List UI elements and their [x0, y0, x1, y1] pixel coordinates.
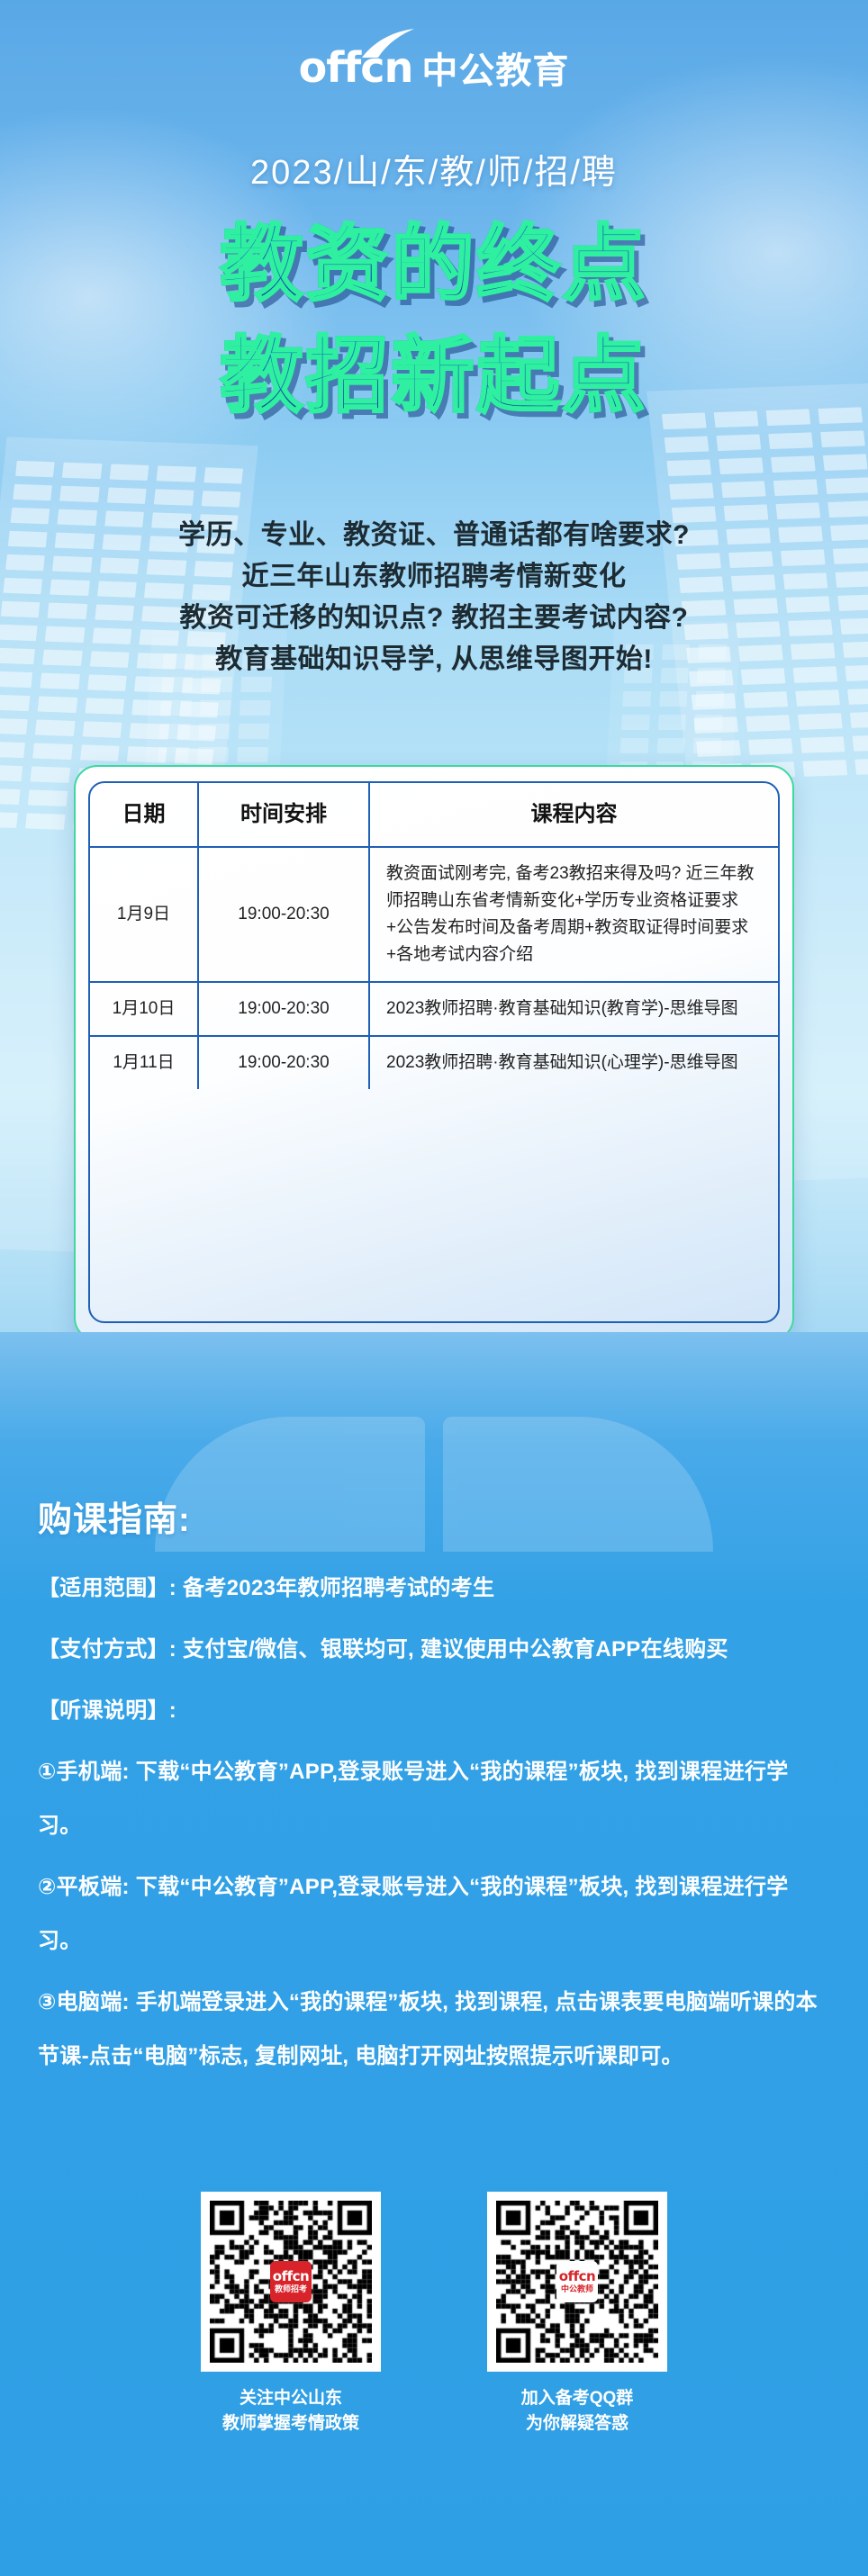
offcn-wordmark-text: offcn [299, 43, 413, 92]
cell-content: 2023教师招聘·教育基础知识(心理学)-思维导图 [369, 1036, 778, 1089]
cell-date: 1月10日 [90, 982, 198, 1036]
headline-line-2: 教招新起点 [0, 335, 868, 418]
qr-code-area: offcn 教师招考 关注中公山东 教师掌握考情政策 offcn 中公教师 加入… [0, 2192, 868, 2436]
qr-item-wechat[interactable]: offcn 教师招考 关注中公山东 教师掌握考情政策 [201, 2192, 381, 2436]
table-header-row: 日期 时间安排 课程内容 [90, 783, 778, 847]
schedule-table: 日期 时间安排 课程内容 1月9日 19:00-20:30 教资面试刚考完, 备… [90, 783, 778, 1089]
description-line: 学历、专业、教资证、普通话都有啥要求? [0, 515, 868, 556]
hero-description: 学历、专业、教资证、普通话都有啥要求? 近三年山东教师招聘考情新变化 教资可迁移… [0, 515, 868, 680]
description-line: 近三年山东教师招聘考情新变化 [0, 556, 868, 598]
guide-paragraph-payment: 【支付方式】: 支付宝/微信、银联均可, 建议使用中公教育APP在线购买 [38, 1623, 830, 1677]
qr-center-logo-1: offcn 教师招考 [270, 2261, 312, 2302]
guide-paragraph-tablet: ②平板端: 下载“中公教育”APP,登录账号进入“我的课程”板块, 找到课程进行… [38, 1860, 830, 1968]
headline-line-1: 教资的终点 [0, 223, 868, 306]
description-line: 教资可迁移的知识点? 教招主要考试内容? [0, 598, 868, 639]
poster-root: offcn 中公教育 2023/山/东/教/师/招/聘 教资的终点 教招新起点 … [0, 0, 868, 2576]
brand-logo: offcn 中公教育 [0, 41, 868, 94]
schedule-card-inner: 日期 时间安排 课程内容 1月9日 19:00-20:30 教资面试刚考完, 备… [88, 781, 780, 1323]
table-row: 1月10日 19:00-20:30 2023教师招聘·教育基础知识(教育学)-思… [90, 982, 778, 1036]
schedule-card: 日期 时间安排 课程内容 1月9日 19:00-20:30 教资面试刚考完, 备… [74, 765, 794, 1341]
guide-paragraph-scope: 【适用范围】: 备考2023年教师招聘考试的考生 [38, 1562, 830, 1616]
table-row: 1月9日 19:00-20:30 教资面试刚考完, 备考23教招来得及吗? 近三… [90, 847, 778, 982]
qr-caption-1: 关注中公山东 教师掌握考情政策 [201, 2386, 381, 2436]
cell-content: 教资面试刚考完, 备考23教招来得及吗? 近三年教师招聘山东省考情新变化+学历专… [369, 847, 778, 982]
cell-date: 1月11日 [90, 1036, 198, 1089]
guide-title: 购课指南: [38, 1491, 191, 1541]
cell-date: 1月9日 [90, 847, 198, 982]
column-header-date: 日期 [90, 783, 198, 847]
description-line: 教育基础知识导学, 从思维导图开始! [0, 639, 868, 680]
qr-center-logo-2: offcn 中公教师 [556, 2261, 598, 2302]
event-kicker: 2023/山/东/教/师/招/聘 [0, 144, 868, 194]
offcn-wordmark: offcn [299, 47, 413, 88]
qr-caption-2: 加入备考QQ群 为你解疑答惑 [487, 2386, 667, 2436]
open-book-decor [155, 1408, 713, 1588]
cell-time: 19:00-20:30 [198, 1036, 369, 1089]
column-header-content: 课程内容 [369, 783, 778, 847]
qr-logo-cn-1: 教师招考 [275, 2285, 307, 2293]
guide-body: 【适用范围】: 备考2023年教师招聘考试的考生 【支付方式】: 支付宝/微信、… [38, 1562, 830, 2091]
qr-item-qq[interactable]: offcn 中公教师 加入备考QQ群 为你解疑答惑 [487, 2192, 667, 2436]
guide-paragraph-desktop: ③电脑端: 手机端登录进入“我的课程”板块, 找到课程, 点击课表要电脑端听课的… [38, 1976, 830, 2084]
qr-logo-cn-2: 中公教师 [561, 2285, 593, 2293]
qr-logo-latin-1: offcn [273, 2270, 309, 2283]
table-row: 1月11日 19:00-20:30 2023教师招聘·教育基础知识(心理学)-思… [90, 1036, 778, 1089]
cell-content: 2023教师招聘·教育基础知识(教育学)-思维导图 [369, 982, 778, 1036]
column-header-time: 时间安排 [198, 783, 369, 847]
cell-time: 19:00-20:30 [198, 982, 369, 1036]
qr-code-image-2[interactable]: offcn 中公教师 [487, 2192, 667, 2372]
qr-code-image-1[interactable]: offcn 教师招考 [201, 2192, 381, 2372]
brand-name-cn: 中公教育 [421, 41, 569, 94]
guide-paragraph-mobile: ①手机端: 下载“中公教育”APP,登录账号进入“我的课程”板块, 找到课程进行… [38, 1745, 830, 1853]
qr-logo-latin-2: offcn [559, 2270, 595, 2283]
cell-time: 19:00-20:30 [198, 847, 369, 982]
guide-paragraph-listening-title: 【听课说明】: [38, 1684, 830, 1738]
